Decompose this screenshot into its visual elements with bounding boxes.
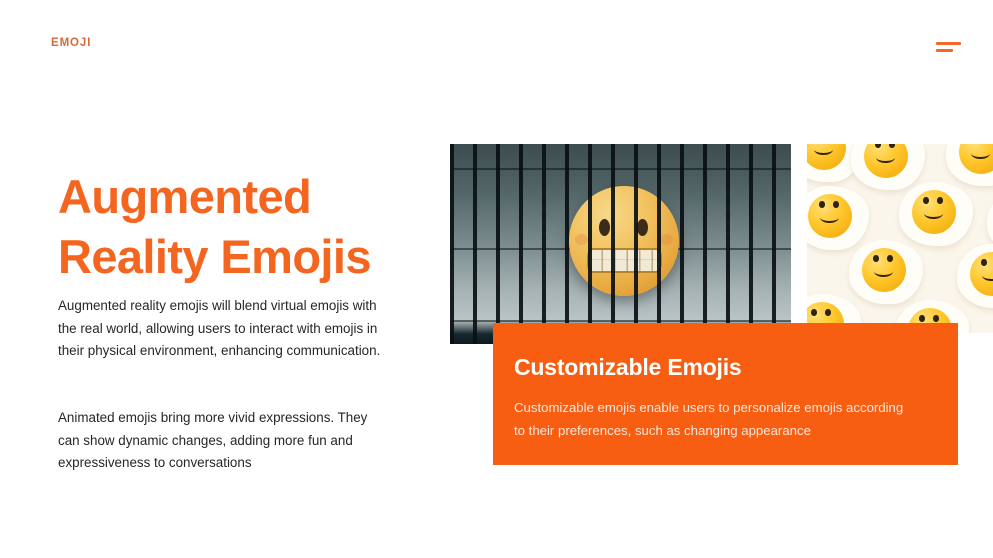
hero-paragraph-2: Animated emojis bring more vivid express… [58,407,388,475]
hero-paragraph-1: Augmented reality emojis will blend virt… [58,295,388,363]
card-title: Customizable Emojis [514,356,934,379]
site-header: EMOJI [0,0,993,92]
egg-smiley [899,182,973,246]
page-title: Augmented Reality Emojis [58,167,438,285]
customizable-emojis-card: Customizable Emojis Customizable emojis … [493,323,958,465]
egg-smiley-pattern-photo [807,144,993,333]
egg-smiley [946,144,993,186]
wall-slats [450,144,791,344]
slide-page: EMOJI Augmented Reality Emojis Augmented… [0,0,993,558]
grimacing-emoji-on-slatted-wall-photo [450,144,791,344]
hamburger-bar-bottom [936,49,953,52]
card-text: Customizable emojis enable users to pers… [514,396,914,442]
media-gallery [450,144,993,344]
egg-smiley [957,244,993,308]
hamburger-bar-top [936,42,961,45]
hamburger-menu-icon[interactable] [936,38,962,56]
brand-logo[interactable]: EMOJI [51,38,91,50]
